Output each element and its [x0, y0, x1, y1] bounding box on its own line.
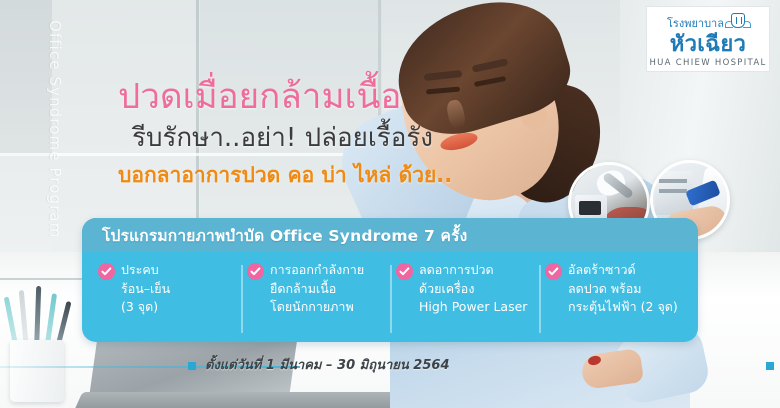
logo-thai-small: โรงพยาบาล: [667, 14, 724, 32]
laptop-base: [74, 392, 413, 408]
headline-line-2: รีบรักษา..อย่า! ปล่อยเรื้อรัง: [118, 121, 538, 156]
wall-panel-left: [0, 0, 52, 156]
program-panel: โปรแกรมกายภาพบำบัด Office Syndrome 7 ครั…: [82, 218, 698, 342]
program-items-list: ประคบ ร้อน–เย็น (3 จุด) การออกกำลังกาย ย…: [82, 252, 698, 342]
list-item-label: ประคบ ร้อน–เย็น (3 จุด): [121, 261, 170, 342]
office-syndrome-promo-banner: Office Syndrome Program โรงพยาบาล หัวเฉี…: [0, 0, 780, 408]
check-circle-icon: [396, 263, 413, 280]
logo-english: HUA CHIEW HOSPITAL: [649, 58, 766, 68]
list-item-label: อัลตร้าซาวด์ ลดปวด พร้อม กระตุ้นไฟฟ้า (2…: [568, 261, 678, 342]
list-item[interactable]: ลดอาการปวด ด้วยเครื่อง High Power Laser: [390, 261, 539, 342]
headline-block: ปวดเมื่อยกล้ามเนื้อ รีบรักษา..อย่า! ปล่อ…: [118, 78, 538, 190]
check-circle-icon: [98, 263, 115, 280]
program-title: โปรแกรมกายภาพบำบัด Office Syndrome 7 ครั…: [102, 223, 467, 248]
headline-line-1: ปวดเมื่อยกล้ามเนื้อ: [118, 78, 538, 117]
program-panel-header: โปรแกรมกายภาพบำบัด Office Syndrome 7 ครั…: [82, 218, 698, 252]
hospital-logo[interactable]: โรงพยาบาล หัวเฉียว HUA CHIEW HOSPITAL: [646, 6, 770, 72]
promotion-period-text: ตั้งแต่วันที่ 1 มีนาคม – 30 มิถุนายน 256…: [205, 354, 450, 375]
headline-line-3: บอกลาอาการปวด คอ บ่า ไหล่ ด้วย..: [118, 161, 538, 190]
logo-thai-big: หัวเฉียว: [670, 33, 746, 56]
list-item[interactable]: อัลตร้าซาวด์ ลดปวด พร้อม กระตุ้นไฟฟ้า (2…: [539, 261, 688, 342]
hospital-crest-icon: [727, 12, 749, 34]
logo-top-row: โรงพยาบาล: [647, 12, 769, 34]
check-circle-icon: [247, 263, 264, 280]
vertical-watermark-text: Office Syndrome Program: [46, 20, 64, 220]
list-item[interactable]: ประคบ ร้อน–เย็น (3 จุด): [92, 261, 241, 342]
list-item-label: ลดอาการปวด ด้วยเครื่อง High Power Laser: [419, 261, 527, 342]
footer-bullet-square: [188, 362, 196, 370]
footer-bullet-square-right: [766, 362, 774, 370]
list-item-label: การออกกำลังกาย ยืดกล้ามเนื้อ โดยนักกายภา…: [270, 261, 364, 342]
list-item[interactable]: การออกกำลังกาย ยืดกล้ามเนื้อ โดยนักกายภา…: [241, 261, 390, 342]
pen-holder: [10, 340, 64, 402]
check-circle-icon: [545, 263, 562, 280]
